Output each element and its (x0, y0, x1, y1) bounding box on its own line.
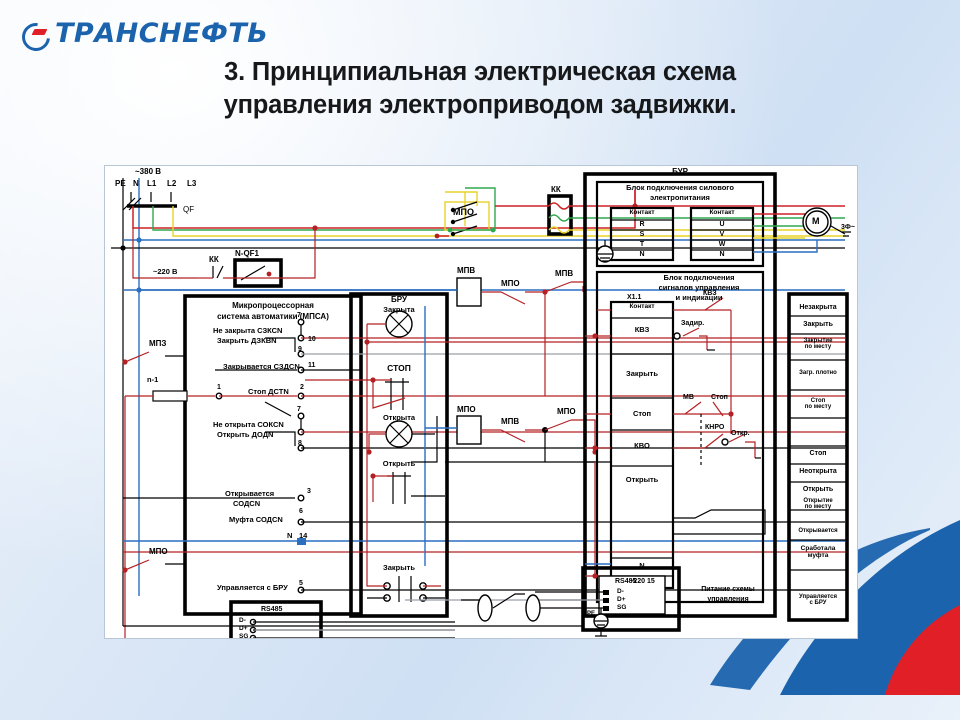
label-terminal-l3: L3 (187, 180, 196, 188)
bru-lamp-closed-label: Закрыта (351, 306, 447, 314)
label-mpo-coil: МПО (457, 406, 476, 414)
legend-item-7: Открыть (789, 486, 847, 493)
mpsa-pin-10: 10 (308, 336, 316, 343)
mpsa-row2-label1: Стоп ДСТN (248, 388, 289, 396)
mpsa-row0-label1: Не закрыта СЗКСN (213, 327, 282, 335)
bur-signal-table-header: Контакт (611, 304, 673, 311)
bur-signal-row-stop: Стоп (611, 410, 673, 418)
rs485-left-pin-sg: SG (239, 634, 248, 641)
bur-signal-title-line1: Блок подключения (635, 274, 763, 282)
label-contact-n1: n-1 (147, 376, 158, 384)
label-terminal-l2: L2 (167, 180, 176, 188)
bur-power-right-w: W (691, 241, 753, 248)
bur-signal-row-open: Открыть (611, 476, 673, 484)
mpsa-row0-label2: Закрыть ДЗКВN (217, 337, 277, 345)
bur-signal-title-line3: и индикации (635, 294, 763, 302)
legend-item-5: Стоп (789, 450, 847, 457)
label-breaker-n-qf1: N-QF1 (235, 250, 259, 258)
mpsa-row6-label1: N (287, 532, 292, 540)
legend-item-10: Открывается (789, 528, 847, 534)
bru-stop-button-label[interactable]: СТОП (351, 364, 447, 373)
brand-name: ТРАНСНЕФТЬ (55, 18, 268, 49)
rs485-left-pin-d-plus: D+ (239, 626, 248, 633)
label-mpv-contact2: МПВ (501, 418, 519, 426)
rs485-right-ground-label: PE (587, 611, 595, 617)
mpsa-pin-2: 2 (300, 384, 304, 391)
rs485-right-pin-sg: SG (617, 605, 626, 612)
mpsa-pin-9: 9 (298, 346, 302, 353)
rs485-left-pin-d-minus: D- (239, 618, 246, 625)
motor-label: 3Ф~ (841, 224, 855, 231)
bur-signal-row-n: N (611, 562, 673, 570)
legend-item-1: Закрыть (789, 321, 847, 328)
bur-power-table-right-header: Контакт (691, 210, 753, 217)
rs485-right-pin-d-minus: D- (617, 589, 624, 596)
slide-title-line2: управления электроприводом задвижки. (0, 89, 960, 122)
label-mpo-power: МПО (453, 208, 474, 217)
mpsa-pin-7b: 7 (297, 406, 301, 413)
mpsa-title-line2: система автоматики (МПСА) (187, 313, 359, 321)
mpsa-pin-5: 5 (299, 580, 303, 587)
bur-power-left-n: N (611, 251, 673, 258)
mpsa-pin-6: 6 (299, 508, 303, 515)
rs485-right-pin-d-plus: D+ (617, 597, 626, 604)
legend-item-8: Открытие по месту (789, 498, 847, 510)
bur-inner-otkr: Откр. (731, 430, 750, 437)
label-mpo-contact2: МПО (557, 408, 576, 416)
rs485-right-title: RS485 (615, 578, 636, 585)
mpsa-row5-label1: Муфта СОДСN (229, 516, 283, 524)
mpsa-title-line1: Микропроцессорная (187, 302, 359, 310)
bur-inner-zadir: Задир. (681, 320, 704, 327)
slide-title: 3. Принципиальная электрическая схема уп… (0, 56, 960, 121)
legend-item-13: Управляется с БРУ (789, 594, 847, 606)
mpsa-row4-label2: СОДСN (233, 500, 260, 508)
mpsa-pin-8: 8 (298, 440, 302, 447)
bur-power-left-s: S (611, 231, 673, 238)
legend-item-11: Сработала муфта (789, 546, 847, 559)
slide-title-line1: 3. Принципиальная электрическая схема (0, 56, 960, 89)
legend-item-0: Незакрыта (789, 304, 847, 311)
bur-inner-knro: КНРО (705, 424, 724, 431)
bur-power-right-n: N (691, 251, 753, 258)
bru-open-button-label[interactable]: Открыть (351, 460, 447, 468)
bur-inner-kvz: КВЗ (703, 290, 717, 297)
legend-item-3: Загр. плотно (789, 370, 847, 376)
transneft-mark-icon (22, 21, 48, 47)
label-thermal-relay-kk: КК (209, 256, 219, 264)
mpsa-row7-label1: Управляется с БРУ (217, 584, 288, 592)
mpsa-row4-label1: Открывается (225, 490, 274, 498)
legend-item-6: Неоткрыта (789, 468, 847, 475)
bur-signal-row-kvo: КВО (611, 442, 673, 450)
bru-lamp-open-label: Открыта (351, 414, 447, 422)
bur-power-title-line1: Блок подключения силового (597, 184, 763, 192)
bru-title: БРУ (351, 296, 447, 304)
schematic-canvas: .k{stroke:#000;stroke-width:1.2;fill:non… (104, 165, 858, 639)
bur-power-left-r: R (611, 221, 673, 228)
mpsa-pin-1: 1 (217, 384, 221, 391)
motor-symbol: M (812, 217, 820, 226)
bur-footer-line1: Питание схемы (683, 586, 773, 593)
label-terminal-pe: PE (115, 180, 126, 188)
bur-power-left-t: T (611, 241, 673, 248)
label-mpv-contact: МПВ (555, 270, 573, 278)
mpsa-pin-7a: 7 (297, 312, 301, 319)
mpsa-row1-label1: Закрывается СЗДСN (223, 363, 300, 371)
label-mpv-coil: МПВ (457, 267, 475, 275)
mpsa-pin-14: 14 (299, 532, 307, 540)
bur-power-right-v: V (691, 231, 753, 238)
mpsa-pin-11: 11 (308, 362, 315, 369)
bur-signal-title-line2: сигналов управления (635, 284, 763, 292)
label-mpo-contact: МПО (501, 280, 520, 288)
label-mpo-contact3: МПО (149, 548, 168, 556)
bur-inner-stop: Стоп (711, 394, 728, 401)
brand-logo: ТРАНСНЕФТЬ (22, 18, 268, 49)
rs485-left-title: RS485 (261, 606, 282, 613)
legend-item-4: Стоп по месту (789, 398, 847, 410)
label-breaker-qf: QF (183, 206, 194, 214)
bur-inner-mv: МВ (683, 394, 694, 401)
bur-signal-row-kvz: КВЗ (611, 326, 673, 334)
label-voltage-220: ~220 В (153, 268, 177, 276)
label-terminal-n: N (133, 180, 139, 188)
bur-power-table-left-header: Контакт (611, 210, 673, 217)
label-voltage-380: ~380 В (135, 168, 161, 176)
mpsa-pin-3: 3 (307, 488, 311, 495)
mpsa-row3-label1: Не открыта СОКСN (213, 421, 284, 429)
label-kk-relay: КК (551, 186, 561, 194)
bur-power-title-line2: электропитания (597, 194, 763, 202)
label-mpz-contact: МПЗ (149, 340, 166, 348)
bur-power-right-u: U (691, 221, 753, 228)
legend-item-2: Закрытие по месту (789, 338, 847, 350)
bru-close-button-label[interactable]: Закрыть (351, 564, 447, 572)
mpsa-row3-label2: Открыть ДОДN (217, 431, 273, 439)
label-terminal-l1: L1 (147, 180, 156, 188)
bur-signal-row-close: Закрыть (611, 370, 673, 378)
bur-footer-line2: управления (683, 596, 773, 603)
bur-signal-connector: X1.1 (627, 294, 641, 301)
bur-title: БУР (585, 168, 775, 176)
